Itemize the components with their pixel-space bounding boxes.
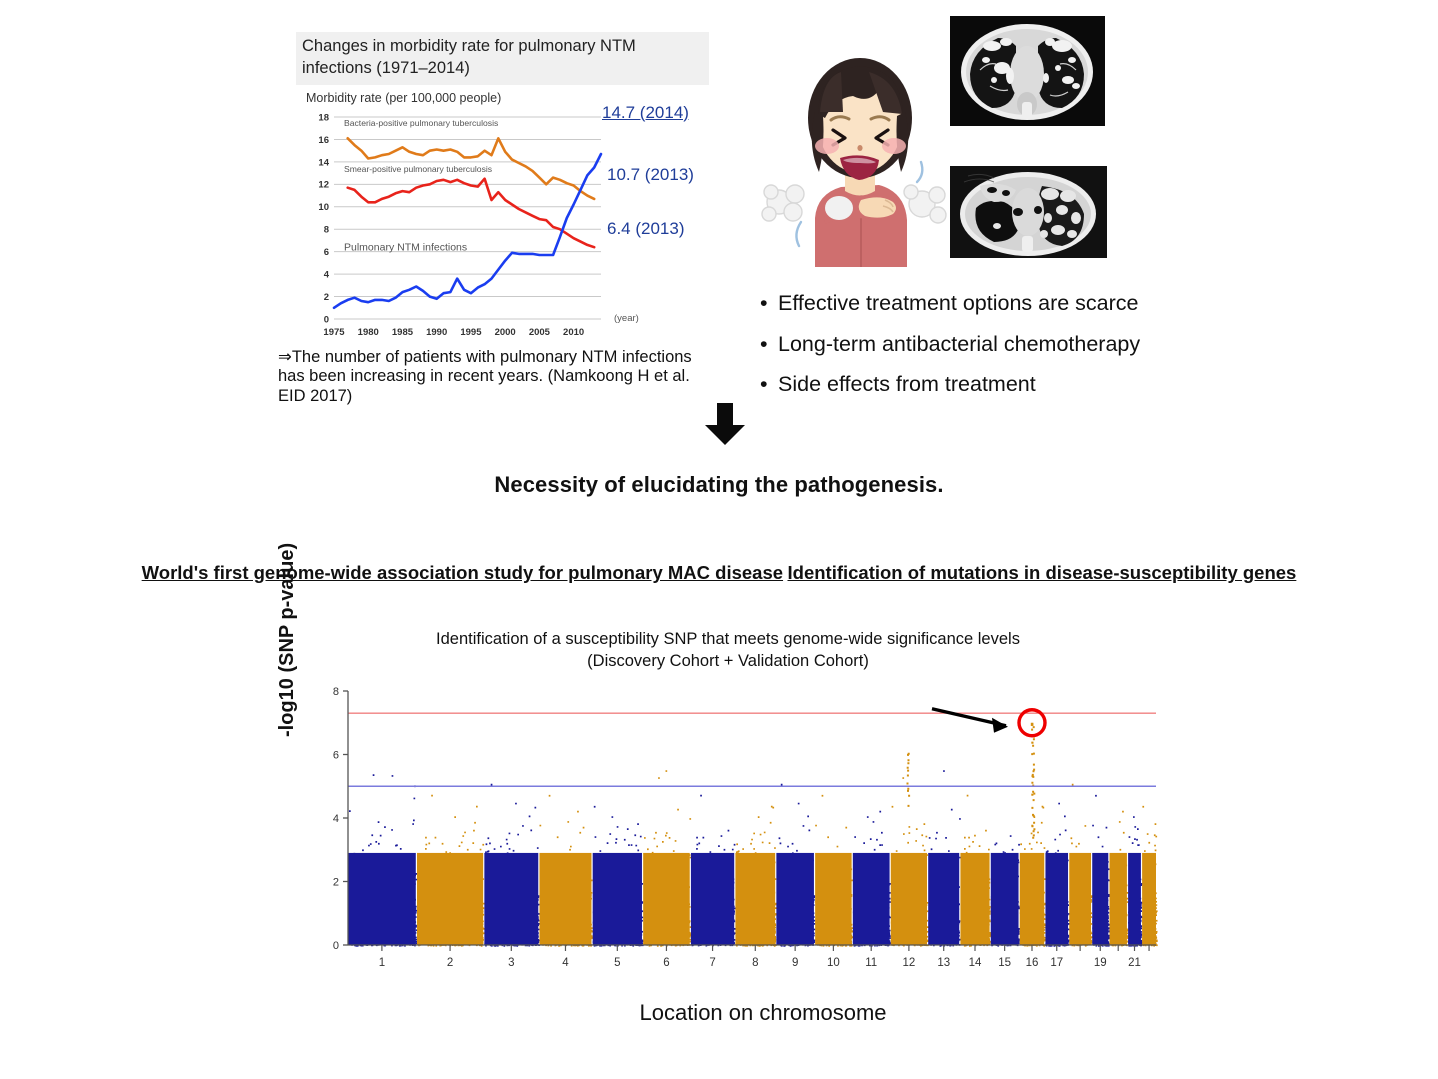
list-item: • Side effects from treatment bbox=[760, 371, 1200, 399]
ct-scan-image-upper bbox=[950, 16, 1105, 126]
svg-text:16: 16 bbox=[318, 134, 329, 145]
svg-text:10: 10 bbox=[318, 202, 329, 213]
svg-text:8: 8 bbox=[324, 224, 329, 235]
svg-text:6: 6 bbox=[333, 749, 339, 761]
morbidity-line-chart: 024681012141618 197519801985199019952000… bbox=[296, 107, 721, 352]
svg-text:10: 10 bbox=[827, 957, 840, 969]
down-arrow-icon bbox=[700, 399, 750, 454]
manhattan-subtitle-line2: (Discovery Cohort + Validation Cohort) bbox=[278, 650, 1178, 672]
svg-text:14: 14 bbox=[969, 957, 982, 969]
morbidity-chart-title: Changes in morbidity rate for pulmonary … bbox=[296, 32, 709, 85]
svg-text:21: 21 bbox=[1128, 957, 1141, 969]
treatment-limitations-list: • Effective treatment options are scarce… bbox=[760, 290, 1200, 412]
morbidity-source-caption: ⇒The number of patients with pulmonary N… bbox=[278, 348, 698, 406]
svg-text:12: 12 bbox=[902, 957, 915, 969]
svg-text:4: 4 bbox=[324, 269, 330, 280]
bullet-text: Long-term antibacterial chemotherapy bbox=[778, 331, 1200, 359]
manhattan-subtitle-line1: Identification of a susceptibility SNP t… bbox=[278, 628, 1178, 650]
svg-text:4: 4 bbox=[333, 813, 339, 825]
svg-text:15: 15 bbox=[998, 957, 1011, 969]
svg-text:Smear-positive pulmonary tuber: Smear-positive pulmonary tuberculosis bbox=[344, 164, 492, 174]
gwas-heading: World's first genome-wide association st… bbox=[0, 558, 1438, 587]
svg-text:6: 6 bbox=[324, 247, 329, 258]
svg-text:1: 1 bbox=[379, 957, 385, 969]
svg-text:13: 13 bbox=[937, 957, 950, 969]
svg-text:1985: 1985 bbox=[392, 327, 414, 338]
svg-text:Bacteria-positive pulmonary tu: Bacteria-positive pulmonary tuberculosis bbox=[344, 118, 498, 128]
svg-text:5: 5 bbox=[614, 957, 620, 969]
svg-text:1990: 1990 bbox=[426, 327, 447, 338]
morbidity-chart-panel: Changes in morbidity rate for pulmonary … bbox=[296, 32, 721, 352]
svg-text:9: 9 bbox=[792, 957, 798, 969]
gwas-heading-line2: Identification of mutations in disease-s… bbox=[788, 559, 1297, 587]
annotation-bacteria-tb-2013: 10.7 (2013) bbox=[607, 165, 694, 185]
svg-text:2: 2 bbox=[447, 957, 453, 969]
bullet-dot-icon: • bbox=[760, 371, 778, 399]
svg-text:2005: 2005 bbox=[529, 327, 551, 338]
manhattan-plot-panel: Identification of a susceptibility SNP t… bbox=[278, 628, 1178, 1026]
svg-text:2: 2 bbox=[333, 876, 339, 888]
svg-text:0: 0 bbox=[324, 314, 329, 325]
svg-text:Pulmonary NTM infections: Pulmonary NTM infections bbox=[344, 241, 467, 253]
bullet-dot-icon: • bbox=[760, 290, 778, 318]
svg-text:(year): (year) bbox=[614, 313, 639, 324]
svg-text:18: 18 bbox=[318, 112, 329, 123]
conclusion-statement: Necessity of elucidating the pathogenesi… bbox=[0, 472, 1438, 498]
manhattan-figure: -log10 (SNP p-value) 0246812345678910111… bbox=[278, 677, 1178, 1026]
svg-text:4: 4 bbox=[562, 957, 569, 969]
svg-text:2: 2 bbox=[324, 291, 329, 302]
svg-text:1980: 1980 bbox=[358, 327, 379, 338]
svg-text:12: 12 bbox=[318, 179, 329, 190]
bullet-text: Side effects from treatment bbox=[778, 371, 1200, 399]
svg-text:2010: 2010 bbox=[563, 327, 584, 338]
svg-text:8: 8 bbox=[333, 686, 339, 698]
svg-text:7: 7 bbox=[709, 957, 715, 969]
svg-text:6: 6 bbox=[663, 957, 669, 969]
annotation-ntm-2014: 14.7 (2014) bbox=[602, 103, 689, 123]
list-item: • Effective treatment options are scarce bbox=[760, 290, 1200, 318]
svg-text:1995: 1995 bbox=[460, 327, 482, 338]
manhattan-ylabel: -log10 (SNP p-value) bbox=[276, 543, 299, 737]
svg-text:17: 17 bbox=[1050, 957, 1063, 969]
svg-text:1975: 1975 bbox=[323, 327, 345, 338]
svg-text:19: 19 bbox=[1094, 957, 1107, 969]
manhattan-plot-svg: 0246812345678910111213141516171921 bbox=[278, 677, 1178, 997]
svg-text:8: 8 bbox=[752, 957, 758, 969]
gwas-heading-line1: World's first genome-wide association st… bbox=[142, 559, 783, 587]
svg-text:16: 16 bbox=[1026, 957, 1039, 969]
svg-text:11: 11 bbox=[865, 957, 877, 969]
svg-text:0: 0 bbox=[333, 940, 339, 952]
coughing-person-illustration bbox=[757, 42, 957, 267]
bullet-dot-icon: • bbox=[760, 331, 778, 359]
list-item: • Long-term antibacterial chemotherapy bbox=[760, 331, 1200, 359]
manhattan-subtitle: Identification of a susceptibility SNP t… bbox=[278, 628, 1178, 673]
svg-text:2000: 2000 bbox=[495, 327, 516, 338]
annotation-smear-tb-2013: 6.4 (2013) bbox=[607, 219, 685, 239]
svg-text:14: 14 bbox=[318, 157, 329, 168]
manhattan-xlabel: Location on chromosome bbox=[278, 1000, 1178, 1026]
ct-scan-image-lower bbox=[950, 166, 1107, 258]
bullet-text: Effective treatment options are scarce bbox=[778, 290, 1200, 318]
svg-text:3: 3 bbox=[508, 957, 514, 969]
